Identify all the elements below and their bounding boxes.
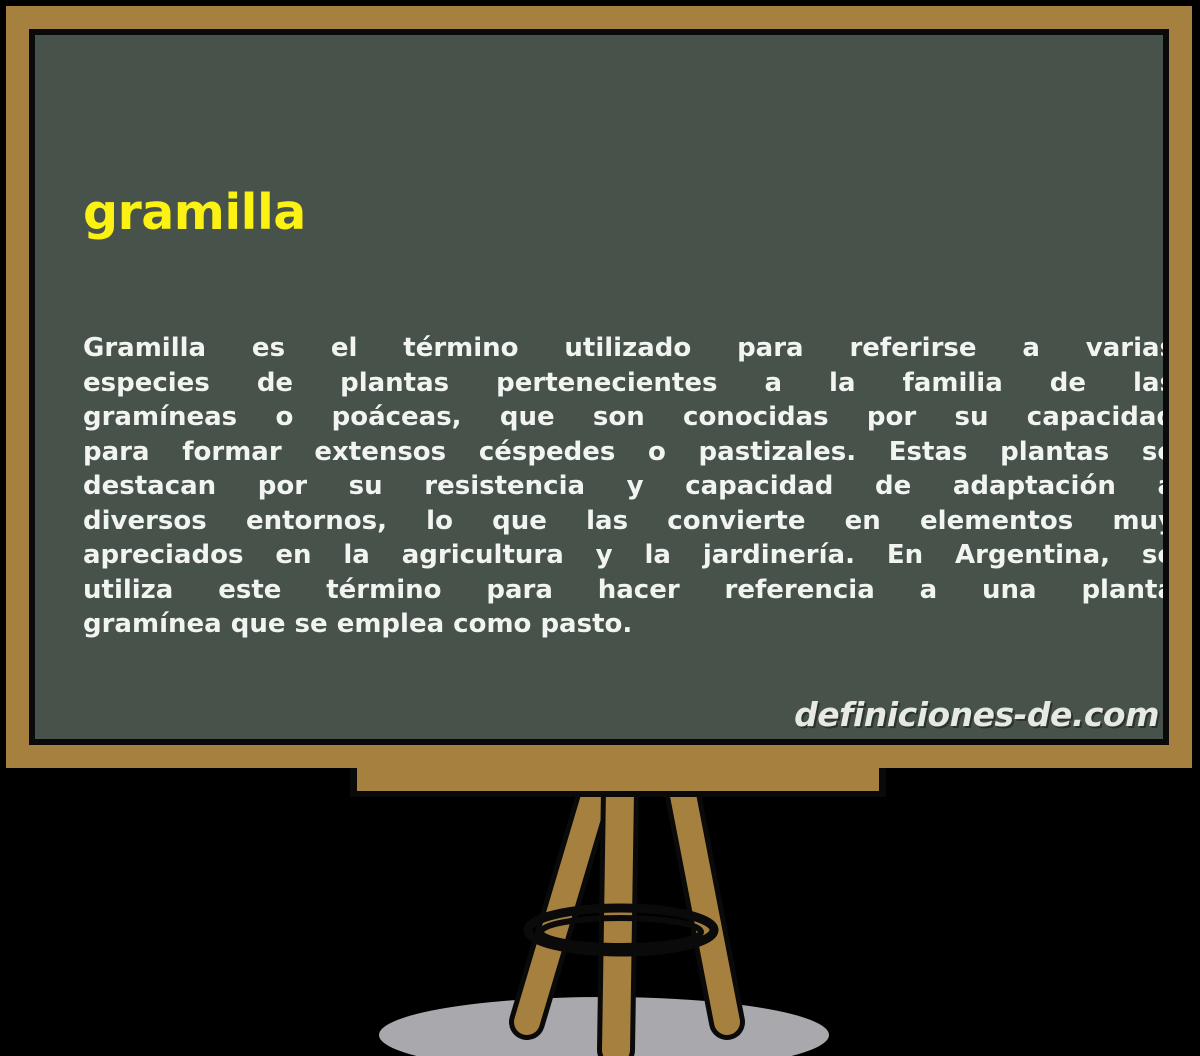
definition-card-scene: gramilla Gramilla es el término utilizad… [0, 0, 1200, 1056]
definition-body-text: Gramilla es el término utilizado para re… [83, 331, 1163, 642]
definition-line: gramínea que se emplea como pasto. [83, 607, 1163, 642]
definition-line: destacan por su resistencia y capacidad … [83, 469, 1163, 504]
definition-line: especies de plantas pertenecientes a la … [83, 366, 1163, 401]
definition-line: diversos entornos, lo que las convierte … [83, 504, 1163, 539]
definition-line: Gramilla es el término utilizado para re… [83, 331, 1163, 366]
definition-line: apreciados en la agricultura y la jardin… [83, 538, 1163, 573]
site-watermark: definiciones-de.com [794, 695, 1159, 734]
definition-line: utiliza este término para hacer referenc… [83, 573, 1163, 608]
definition-term-title: gramilla [83, 188, 306, 237]
definition-line: para formar extensos céspedes o pastizal… [83, 435, 1163, 470]
chalkboard-frame: gramilla Gramilla es el término utilizad… [6, 6, 1192, 768]
chalkboard-surface: gramilla Gramilla es el término utilizad… [35, 35, 1163, 739]
definition-line: gramíneas o poáceas, que son conocidas p… [83, 400, 1163, 435]
